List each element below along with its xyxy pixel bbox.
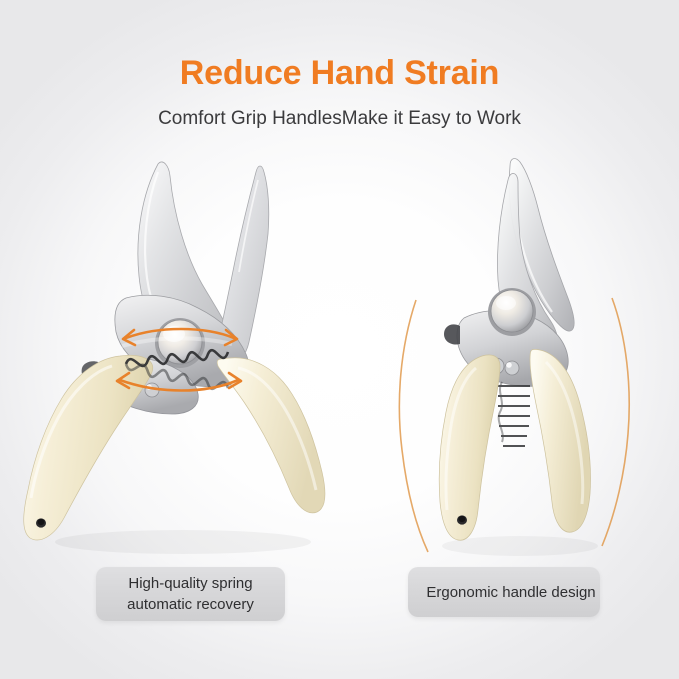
page-subtitle: Comfort Grip HandlesMake it Easy to Work bbox=[0, 108, 679, 130]
ergonomic-contour-right bbox=[602, 298, 629, 546]
caption-line-2: automatic recovery bbox=[127, 594, 254, 615]
ergonomic-contour-left bbox=[399, 300, 428, 552]
page-title: Reduce Hand Strain bbox=[0, 54, 679, 93]
pivot-bolt bbox=[491, 290, 533, 332]
pruning-shear-open bbox=[8, 150, 348, 560]
caption-line-1: Ergonomic handle design bbox=[426, 582, 595, 603]
pivot-bolt bbox=[158, 320, 202, 364]
pruning-shear-closed bbox=[390, 150, 650, 560]
latch-hook bbox=[444, 324, 460, 344]
coil-spring bbox=[498, 382, 530, 446]
caption-ergonomic-handle-design: Ergonomic handle design bbox=[408, 567, 600, 617]
shadow bbox=[55, 530, 311, 554]
caption-line-1: High-quality spring bbox=[127, 573, 254, 594]
handle-right bbox=[530, 349, 591, 532]
caption-high-quality-spring: High-quality spring automatic recovery bbox=[96, 567, 285, 621]
product-feature-graphic: Reduce Hand Strain Comfort Grip HandlesM… bbox=[0, 0, 679, 679]
